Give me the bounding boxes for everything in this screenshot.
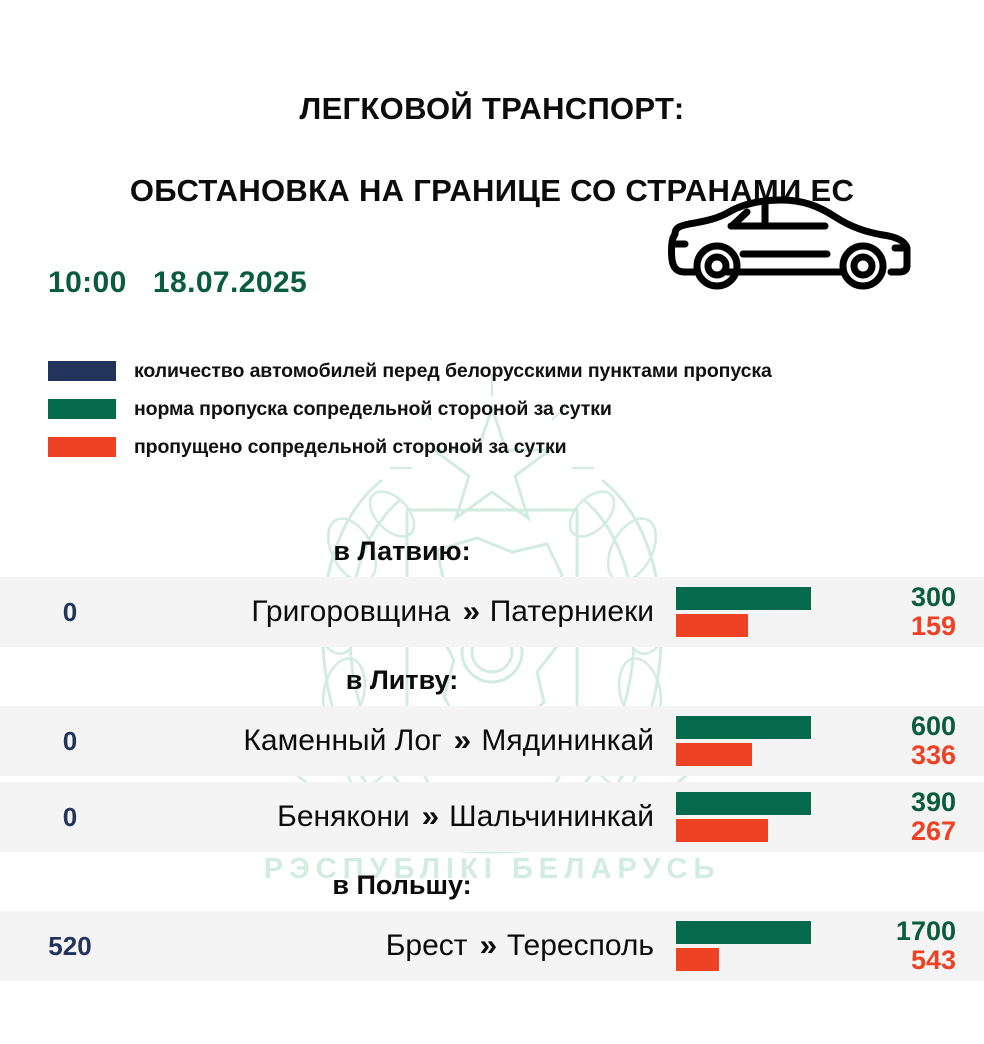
- row-bars: [676, 921, 876, 971]
- table-row: 520 Брест » Тересполь 1700 543: [0, 911, 984, 981]
- chevron-right-icon: »: [418, 800, 442, 834]
- table-row: 0 Григоровщина » Патерниеки 300 159: [0, 577, 984, 647]
- route-to: Мядининкай: [481, 724, 654, 757]
- route-from: Брест: [386, 929, 468, 962]
- title-line-1: ЛЕГКОВОЙ ТРАНСПОРТ:: [0, 89, 984, 130]
- row-values: 600 336: [876, 712, 984, 770]
- row-bars: [676, 587, 876, 637]
- timestamp: 10:00 18.07.2025: [48, 266, 307, 300]
- chevron-right-icon: »: [450, 724, 474, 758]
- value-norm: 600: [911, 712, 956, 741]
- legend: количество автомобилей перед белорусским…: [48, 352, 948, 466]
- value-norm: 300: [911, 583, 956, 612]
- row-bars: [676, 792, 876, 842]
- sections-container: в Латвию: 0 Григоровщина » Патерниеки 30…: [0, 524, 984, 987]
- row-queue-value: 0: [0, 726, 140, 757]
- row-queue-value: 0: [0, 802, 140, 833]
- car-icon: [655, 186, 925, 296]
- chevron-right-icon: »: [475, 929, 499, 963]
- route-from: Бенякони: [277, 800, 410, 833]
- table-row: 0 Каменный Лог » Мядининкай 600 336: [0, 706, 984, 776]
- value-passed: 336: [911, 741, 956, 770]
- value-passed: 543: [911, 946, 956, 975]
- infographic-page: ЛЕГКОВОЙ ТРАНСПОРТ: ОБСТАНОВКА НА ГРАНИЦ…: [0, 0, 984, 1044]
- table-row: 0 Бенякони » Шальчининкай 390 267: [0, 782, 984, 852]
- legend-label-queue: количество автомобилей перед белорусским…: [134, 360, 772, 383]
- value-passed: 267: [911, 817, 956, 846]
- legend-label-passed: пропущено сопредельной стороной за сутки: [134, 436, 567, 459]
- legend-item-norm: норма пропуска сопредельной стороной за …: [48, 390, 948, 428]
- row-route: Бенякони » Шальчининкай: [140, 800, 676, 834]
- bar-norm: [676, 792, 811, 815]
- row-route: Григоровщина » Патерниеки: [140, 595, 676, 629]
- row-queue-value: 520: [0, 931, 140, 962]
- value-norm: 1700: [896, 917, 956, 946]
- route-to: Патерниеки: [490, 595, 654, 628]
- row-route: Брест » Тересполь: [140, 929, 676, 963]
- bar-passed: [676, 743, 752, 766]
- section-heading-poland: в Польшу:: [0, 858, 804, 911]
- legend-item-passed: пропущено сопредельной стороной за сутки: [48, 428, 948, 466]
- legend-item-queue: количество автомобилей перед белорусским…: [48, 352, 948, 390]
- bar-norm: [676, 587, 811, 610]
- legend-swatch-norm: [48, 399, 116, 419]
- chevron-right-icon: »: [458, 595, 482, 629]
- bar-passed: [676, 948, 719, 971]
- section-poland: в Польшу: 520 Брест » Тересполь 1700 543: [0, 858, 984, 981]
- row-route: Каменный Лог » Мядининкай: [140, 724, 676, 758]
- route-to: Шальчининкай: [449, 800, 654, 833]
- row-values: 390 267: [876, 788, 984, 846]
- route-from: Каменный Лог: [243, 724, 442, 757]
- row-values: 1700 543: [876, 917, 984, 975]
- bar-passed: [676, 614, 748, 637]
- section-heading-lithuania: в Литву:: [0, 653, 804, 706]
- row-queue-value: 0: [0, 597, 140, 628]
- section-heading-latvia: в Латвию:: [0, 524, 804, 577]
- row-values: 300 159: [876, 583, 984, 641]
- section-lithuania: в Литву: 0 Каменный Лог » Мядининкай 600…: [0, 653, 984, 852]
- legend-label-norm: норма пропуска сопредельной стороной за …: [134, 398, 612, 421]
- route-from: Григоровщина: [251, 595, 450, 628]
- section-latvia: в Латвию: 0 Григоровщина » Патерниеки 30…: [0, 524, 984, 647]
- bar-passed: [676, 819, 768, 842]
- value-passed: 159: [911, 612, 956, 641]
- legend-swatch-queue: [48, 361, 116, 381]
- value-norm: 390: [911, 788, 956, 817]
- legend-swatch-passed: [48, 437, 116, 457]
- route-to: Тересполь: [507, 929, 654, 962]
- row-bars: [676, 716, 876, 766]
- bar-norm: [676, 716, 811, 739]
- bar-norm: [676, 921, 811, 944]
